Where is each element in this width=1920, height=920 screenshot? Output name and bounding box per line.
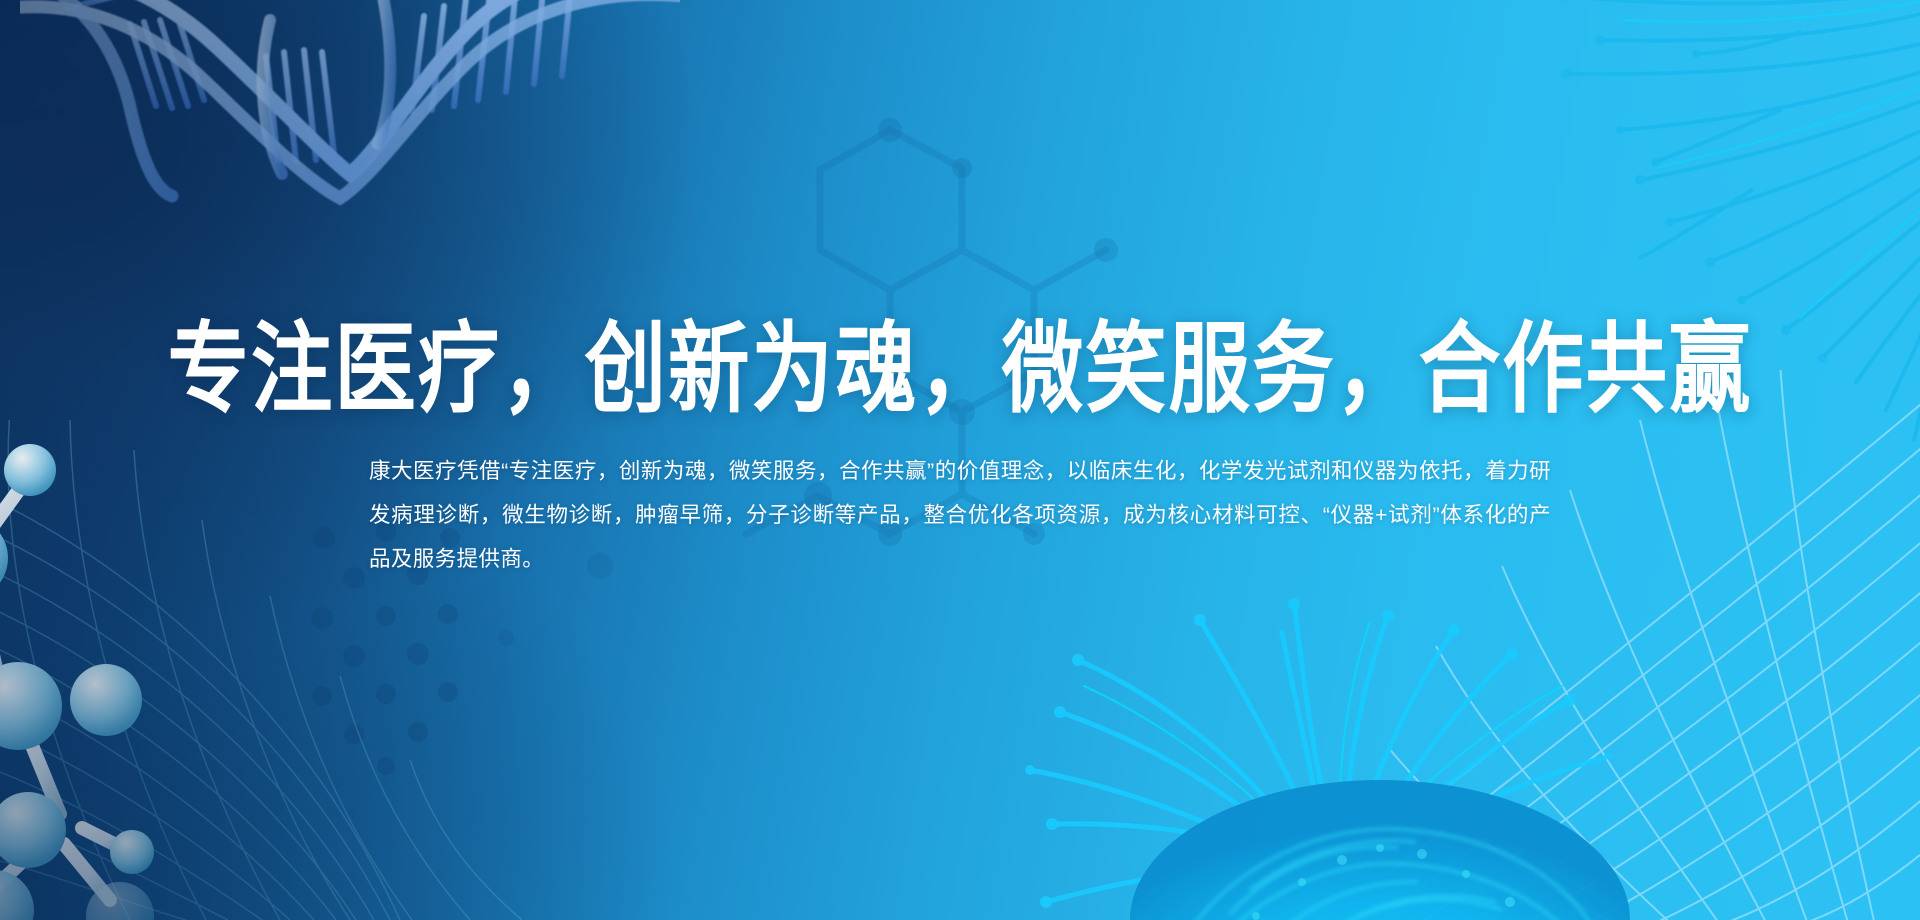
page-title: 专注医疗，创新为魂，微笑服务，合作共赢: [29, 318, 1891, 421]
banner-description: 康大医疗凭借“专注医疗，创新为魂，微笑服务，合作共赢”的价值理念，以临床生化，化…: [369, 449, 1551, 581]
banner-content: 专注医疗，创新为魂，微笑服务，合作共赢 康大医疗凭借“专注医疗，创新为魂，微笑服…: [0, 318, 1920, 582]
description-text: 康大医疗凭借“专注医疗，创新为魂，微笑服务，合作共赢”的价值理念，以临床生化，化…: [369, 449, 1551, 581]
hero-banner: 专注医疗，创新为魂，微笑服务，合作共赢 康大医疗凭借“专注医疗，创新为魂，微笑服…: [0, 0, 1920, 920]
